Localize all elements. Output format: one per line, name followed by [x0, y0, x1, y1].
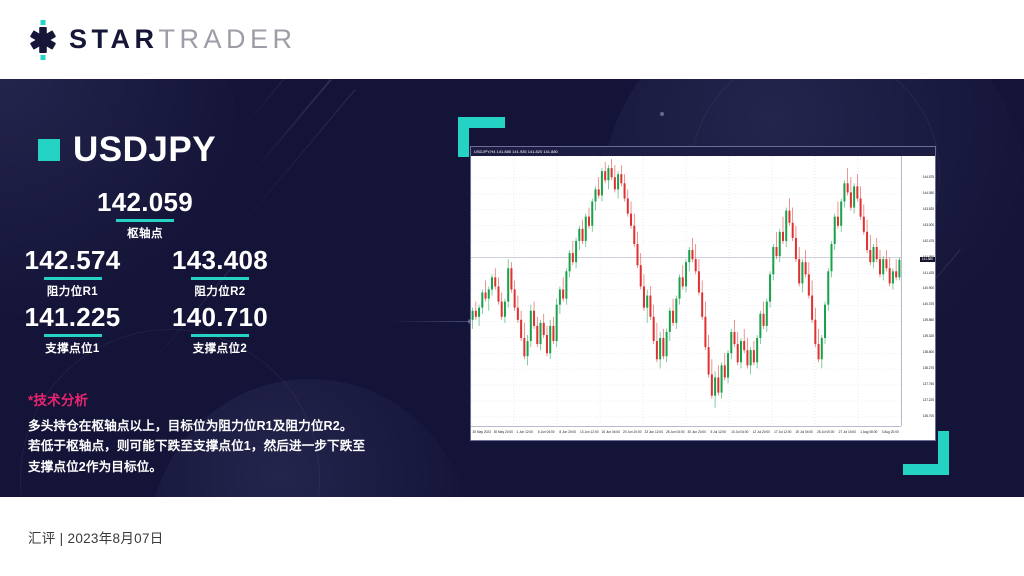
price-tick-label: 143.000 — [923, 224, 934, 227]
resistance-2-label: 阻力位R2 — [145, 283, 295, 299]
pivot-label: 枢轴点 — [0, 225, 290, 241]
deco-dot — [660, 112, 664, 116]
technical-analysis: *技术分析 多头持仓在枢轴点以上，目标位为阻力位R1及阻力位R2。 若低于枢轴点… — [28, 389, 408, 477]
page-header: STARTRADER — [0, 0, 1024, 79]
price-tick-label: 144.575 — [923, 176, 934, 179]
support-1-underline — [44, 334, 102, 337]
time-tick-label: 20 Jun 20:00 — [623, 430, 641, 434]
title-square-icon — [38, 139, 60, 161]
time-tick-label: 28 Jun 04:00 — [666, 430, 684, 434]
price-tick-label: 144.050 — [923, 192, 934, 195]
support-2-block: 140.710 支撑点位2 — [145, 304, 295, 356]
footer-caption: 汇评 | 2023年8月07日 — [28, 527, 164, 547]
time-tick-label: 17 Jul 12:00 — [774, 430, 791, 434]
price-tick-label: 136.700 — [923, 415, 934, 418]
time-tick-label: 10 Jul 04:00 — [731, 430, 748, 434]
chart-plot-area[interactable] — [471, 156, 901, 426]
time-tick-label: 30 May 20:00 — [494, 430, 513, 434]
support-1-label: 支撑点位1 — [0, 340, 145, 356]
resistance-2-block: 143.408 阻力位R2 — [145, 247, 295, 299]
time-tick-label: 30 May 2023 — [473, 430, 491, 434]
time-tick-label: 23 Jun 12:00 — [645, 430, 663, 434]
candlestick-svg — [471, 156, 901, 426]
time-tick-label: 1 Aug 08:00 — [860, 430, 877, 434]
resistance-2-value: 143.408 — [145, 247, 295, 274]
price-tick-label: 139.325 — [923, 335, 934, 338]
price-tick-label: 145.30 — [925, 154, 934, 157]
time-tick-label: 25 Jul 00:00 — [817, 430, 834, 434]
analysis-line-1: 多头持仓在枢轴点以上，目标位为阻力位R1及阻力位R2。 — [28, 416, 408, 436]
current-price-label: 141.880 — [920, 257, 935, 262]
time-tick-label: 6 Jun 04:00 — [538, 430, 555, 434]
brand-trader-text: TRADER — [159, 24, 297, 54]
time-tick-label: 27 Jul 16:00 — [839, 430, 856, 434]
brand-wordmark: STARTRADER — [69, 26, 297, 53]
slide-root: STARTRADER USDJPY — [0, 0, 1024, 576]
price-tick-label: 138.275 — [923, 367, 934, 370]
pivot-value: 142.059 — [0, 189, 290, 216]
price-tick-label: 138.800 — [923, 351, 934, 354]
price-tick-label: 140.375 — [923, 303, 934, 306]
corner-bracket-top-left — [458, 117, 469, 157]
price-tick-label: 141.425 — [923, 272, 934, 275]
support-2-value: 140.710 — [145, 304, 295, 331]
time-tick-label: 12 Jul 20:00 — [753, 430, 770, 434]
price-tick-label: 142.475 — [923, 240, 934, 243]
time-tick-label: 5 Jul 12:00 — [710, 430, 726, 434]
pivot-underline — [116, 219, 174, 222]
chart-price-axis: 145.30144.575144.050143.525143.000142.47… — [901, 156, 935, 426]
analysis-line-3: 支撑点位2作为目标位。 — [28, 457, 408, 477]
support-2-underline — [191, 334, 249, 337]
price-chart[interactable]: USDJPY,H4 141.885 141.935 141.820 141.88… — [470, 146, 936, 441]
time-tick-label: 8 Jun 20:00 — [559, 430, 576, 434]
analysis-line-2: 若低于枢轴点，则可能下跌至支撑点位1，然后进一步下跌至 — [28, 436, 408, 456]
pivot-point-block: 142.059 枢轴点 — [0, 189, 290, 241]
time-tick-label: 3 Aug 20:00 — [882, 430, 899, 434]
asterisk-star-icon — [26, 20, 60, 60]
support-1-value: 141.225 — [0, 304, 145, 331]
time-tick-label: 30 Jun 20:00 — [688, 430, 706, 434]
page-footer: 汇评 | 2023年8月07日 — [0, 497, 1024, 576]
instrument-summary: USDJPY 142.059 枢轴点 142.574 阻力位R1 143.408… — [0, 79, 440, 497]
time-tick-label: 13 Jun 12:00 — [580, 430, 598, 434]
time-tick-label: 16 Jun 04:00 — [602, 430, 620, 434]
resistance-1-block: 142.574 阻力位R1 — [0, 247, 145, 299]
support-1-block: 141.225 支撑点位1 — [0, 304, 145, 356]
corner-bracket-bottom-right — [903, 464, 949, 475]
page-title: USDJPY — [73, 132, 216, 167]
time-tick-label: 20 Jul 04:00 — [796, 430, 813, 434]
resistance-1-underline — [44, 277, 102, 280]
analysis-title: *技术分析 — [28, 389, 408, 409]
resistance-row: 142.574 阻力位R1 143.408 阻力位R2 — [0, 247, 440, 299]
price-tick-label: 139.850 — [923, 319, 934, 322]
time-tick-label: 1 Jun 12:00 — [516, 430, 533, 434]
price-tick-label: 137.750 — [923, 383, 934, 386]
brand-logo: STARTRADER — [26, 20, 297, 60]
price-tick-label: 143.525 — [923, 208, 934, 211]
main-dark-panel: USDJPY 142.059 枢轴点 142.574 阻力位R1 143.408… — [0, 79, 1024, 497]
resistance-1-label: 阻力位R1 — [0, 283, 145, 299]
instrument-title-row: USDJPY — [38, 132, 216, 167]
price-tick-label: 137.225 — [923, 399, 934, 402]
support-row: 141.225 支撑点位1 140.710 支撑点位2 — [0, 304, 440, 356]
price-tick-label: 140.900 — [923, 287, 934, 290]
resistance-1-value: 142.574 — [0, 247, 145, 274]
resistance-2-underline — [191, 277, 249, 280]
chart-title-bar: USDJPY,H4 141.885 141.935 141.820 141.88… — [471, 147, 935, 156]
support-2-label: 支撑点位2 — [145, 340, 295, 356]
brand-star-text: STAR — [69, 24, 159, 54]
chart-time-axis: 30 May 202330 May 20:001 Jun 12:006 Jun … — [471, 426, 901, 440]
